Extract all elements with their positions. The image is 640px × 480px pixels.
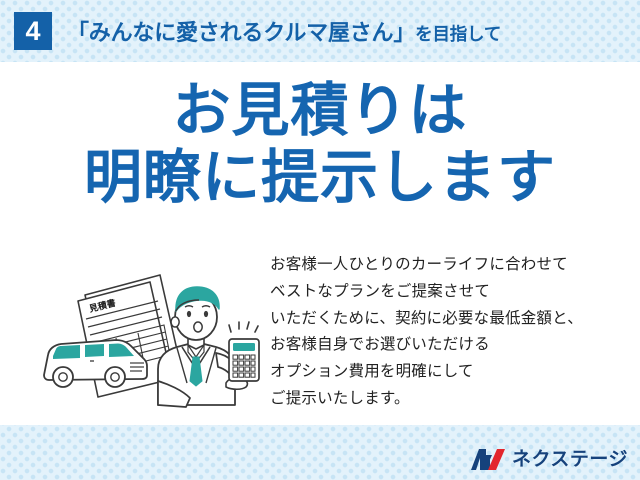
illustration-salesman-estimate: 見積書 (30, 257, 270, 422)
body-copy: お客様一人ひとりのカーライフに合わせて ベストなプランをご提案させて いただくた… (270, 252, 583, 413)
header-title-tail: を目指して (415, 21, 501, 46)
nextage-n-logo-icon (470, 446, 506, 472)
body-copy-line: ご提示いたします。 (270, 386, 583, 413)
header-title-quoted: 「みんなに愛されるクルマ屋さん」 (67, 15, 415, 47)
body-copy-line: お客様一人ひとりのカーライフに合わせて (270, 252, 583, 279)
body-copy-line: オプション費用を明確にして (270, 359, 583, 386)
calculator-icon (229, 339, 259, 381)
body-copy-line: いただくために、契約に必要な最低金額と、 (270, 306, 583, 333)
banner-header: 4 「みんなに愛されるクルマ屋さん」 を目指して (0, 0, 640, 62)
minivan-icon (44, 340, 147, 387)
section-number-badge: 4 (14, 12, 52, 50)
page-title: お見積りは 明瞭に提示します (0, 80, 640, 209)
sparkle-icon (229, 322, 258, 332)
promo-banner: 4 「みんなに愛されるクルマ屋さん」 を目指して お見積りは 明瞭に提示します … (0, 0, 640, 480)
brand-name-label: ネクステージ (512, 450, 628, 469)
body-copy-line: ベストなプランをご提案させて (270, 279, 583, 306)
header-title: 「みんなに愛されるクルマ屋さん」 を目指して (67, 15, 501, 47)
brand-logo: ネクステージ (470, 444, 628, 474)
headline-line-2: 明瞭に提示します (0, 147, 640, 208)
content-card: お見積りは 明瞭に提示します お客様一人ひとりのカーライフに合わせて ベストなプ… (0, 62, 640, 425)
body-copy-line: お客様自身でお選びいただける (270, 332, 583, 359)
headline-line-1: お見積りは (0, 80, 640, 141)
